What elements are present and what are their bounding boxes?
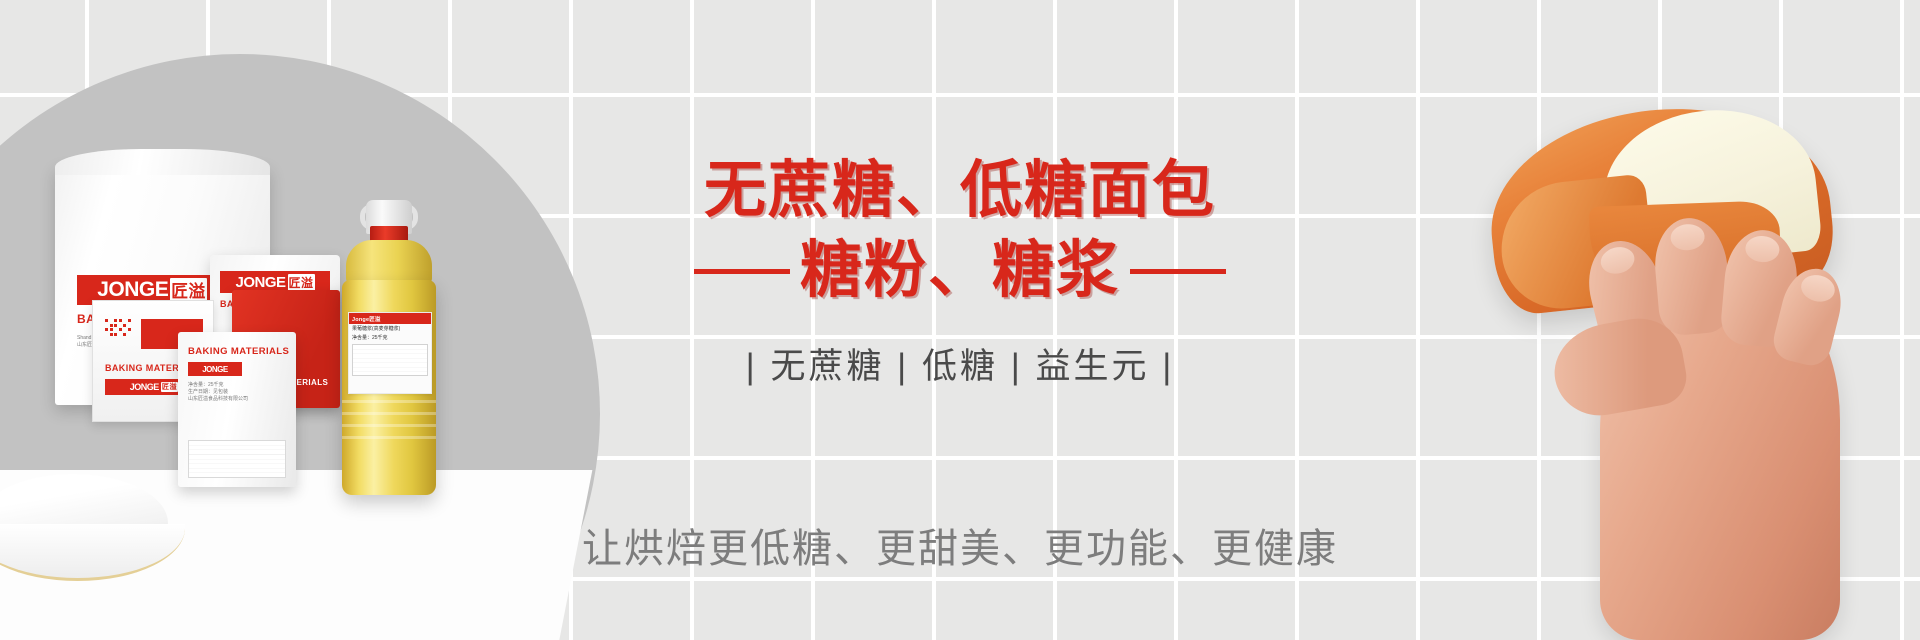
feature-tagline: | 无蔗糖 | 低糖 | 益生元 | xyxy=(640,338,1280,389)
em-dash-left-icon xyxy=(694,269,790,274)
brand-mark-cn: 匠溢 xyxy=(170,278,207,302)
brand-mark-cn-2: 匠溢 xyxy=(288,274,315,291)
brand-name-text: JONGE xyxy=(97,278,168,302)
bottle-nutrition-table xyxy=(352,344,428,376)
banner-text-block: 无蔗糖、低糖面包 糖粉、糖浆 | 无蔗糖 | 低糖 | 益生元 | 让烘焙更低糖… xyxy=(640,0,1280,640)
promotional-banner: JONGE 匠溢 BAKING MATERIALS Shand 山东匠 JONG… xyxy=(0,0,1920,640)
hand-holding-bread xyxy=(1548,196,1878,636)
fingernail xyxy=(1744,235,1780,264)
fingernail xyxy=(1670,223,1706,252)
headline-line-2: 糖粉、糖浆 xyxy=(800,238,1120,305)
fingernail xyxy=(1598,244,1637,277)
bottle-rib xyxy=(342,400,436,403)
bottle-label: Jonge匠溢 果葡糖浆(高麦芽糖浆) 净含量：25千克 xyxy=(348,312,432,394)
em-dash-right-icon xyxy=(1130,269,1226,274)
bottom-slogan: 让烘焙更低糖、更甜美、更功能、更健康 xyxy=(560,516,1360,574)
product-photo-area: JONGE 匠溢 BAKING MATERIALS Shand 山东匠 JONG… xyxy=(0,0,640,640)
sack-label-cn: Shand 山东匠 xyxy=(77,335,92,349)
brand-name-text-3: JONGE xyxy=(130,382,159,392)
fingernail xyxy=(1798,272,1837,305)
headline-line-2-row: 糖粉、糖浆 xyxy=(640,238,1280,305)
product-pouch-white: BAKING MATERIALS JONGE 净含量：25千克 生产日期：见包装… xyxy=(178,332,296,487)
flour-pile xyxy=(0,470,200,580)
brand-logo-2: JONGE 匠溢 xyxy=(235,274,314,291)
headline-line-1: 无蔗糖、低糖面包 xyxy=(640,158,1280,225)
bottle-label-title: 果葡糖浆(高麦芽糖浆) xyxy=(349,324,431,333)
product-syrup-bottle: Jonge匠溢 果葡糖浆(高麦芽糖浆) 净含量：25千克 xyxy=(334,200,444,500)
brand-mark-cn-3: 匠溢 xyxy=(161,382,178,392)
bottle-label-brand: Jonge匠溢 xyxy=(349,313,431,324)
pouch-nutrition-table xyxy=(188,440,286,478)
dot-pattern-icon xyxy=(105,319,131,336)
flour-bowl xyxy=(0,524,185,581)
brand-name-text-4: JONGE xyxy=(202,365,228,374)
brand-logo: JONGE 匠溢 xyxy=(97,278,207,302)
brand-logo-3: JONGE 匠溢 xyxy=(130,382,178,392)
brand-subtitle-4: BAKING MATERIALS xyxy=(188,346,289,357)
pouch-label-cn: 净含量：25千克 生产日期：见包装 山东匠溢食品科技有限公司 xyxy=(188,382,248,402)
bread-photo-area xyxy=(1360,0,1920,640)
bottle-rib xyxy=(342,436,436,439)
brand-name-text-2: JONGE xyxy=(235,274,285,291)
brand-logo-band-4: JONGE xyxy=(188,362,242,376)
bottle-rib xyxy=(342,424,436,427)
brand-logo-4: JONGE xyxy=(202,365,228,374)
bottle-rib xyxy=(342,412,436,415)
bottle-label-net: 净含量：25千克 xyxy=(349,333,431,342)
